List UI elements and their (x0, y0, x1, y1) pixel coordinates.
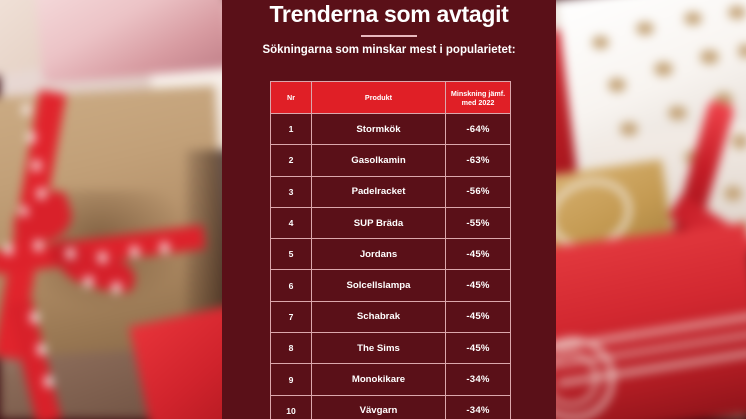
photo-gold-dot (724, 186, 742, 201)
photo-gold-dot (732, 134, 746, 149)
table-row: 4SUP Bräda-55% (271, 207, 511, 238)
table-row: 1Stormkök-64% (271, 114, 511, 145)
table-row: 7Schabrak-45% (271, 301, 511, 332)
cell-change: -63% (446, 145, 511, 176)
trends-table: Nr Produkt Minskning jämf. med 2022 1Sto… (270, 81, 511, 419)
cell-change: -34% (446, 364, 511, 395)
page-subtitle: Sökningarna som minskar mest i popularie… (242, 43, 536, 58)
cell-change: -45% (446, 301, 511, 332)
cell-change: -55% (446, 207, 511, 238)
cell-rank: 7 (271, 301, 312, 332)
cell-change: -34% (446, 395, 511, 419)
column-header-minskning-line2: med 2022 (462, 98, 495, 107)
cell-product: Schabrak (312, 301, 446, 332)
table-header: Nr Produkt Minskning jämf. med 2022 (271, 82, 511, 114)
table-row: 10Vävgarn-34% (271, 395, 511, 419)
photo-bow-knot (50, 240, 80, 268)
photo-gold-dot (668, 106, 687, 120)
cell-rank: 4 (271, 207, 312, 238)
photo-gold-dot (700, 50, 719, 64)
column-header-minskning-line1: Minskning jämf. (451, 89, 505, 98)
cell-change: -64% (446, 114, 511, 145)
cell-product: Monokikare (312, 364, 446, 395)
cell-product: Vävgarn (312, 395, 446, 419)
table-row: 5Jordans-45% (271, 239, 511, 270)
column-header-nr: Nr (271, 82, 312, 114)
cell-rank: 8 (271, 333, 312, 364)
cell-change: -56% (446, 176, 511, 207)
cell-product: SUP Bräda (312, 207, 446, 238)
photo-gold-dot (608, 78, 626, 92)
cell-product: Solcellslampa (312, 270, 446, 301)
photo-gold-dot (592, 36, 609, 49)
content-panel: Trenderna som avtagit Sökningarna som mi… (222, 0, 556, 419)
column-header-minskning: Minskning jämf. med 2022 (446, 82, 511, 114)
table-row: 3Padelracket-56% (271, 176, 511, 207)
cell-rank: 3 (271, 176, 312, 207)
cell-change: -45% (446, 270, 511, 301)
cell-rank: 10 (271, 395, 312, 419)
table-body: 1Stormkök-64%2Gasolkamin-63%3Padelracket… (271, 114, 511, 419)
title-divider (361, 35, 417, 37)
column-header-produkt: Produkt (312, 82, 446, 114)
slide-canvas: Trenderna som avtagit Sökningarna som mi… (0, 0, 746, 419)
cell-change: -45% (446, 239, 511, 270)
cell-rank: 6 (271, 270, 312, 301)
cell-rank: 9 (271, 364, 312, 395)
cell-change: -45% (446, 333, 511, 364)
photo-gold-dot (654, 62, 673, 76)
cell-product: Gasolkamin (312, 145, 446, 176)
cell-product: Padelracket (312, 176, 446, 207)
cell-product: Stormkök (312, 114, 446, 145)
cell-product: Jordans (312, 239, 446, 270)
table-row: 9Monokikare-34% (271, 364, 511, 395)
table-row: 6Solcellslampa-45% (271, 270, 511, 301)
cell-rank: 1 (271, 114, 312, 145)
table-header-row: Nr Produkt Minskning jämf. med 2022 (271, 82, 511, 114)
cell-rank: 5 (271, 239, 312, 270)
table-row: 2Gasolkamin-63% (271, 145, 511, 176)
photo-gold-dot (620, 122, 638, 136)
cell-rank: 2 (271, 145, 312, 176)
page-title: Trenderna som avtagit (222, 1, 556, 28)
photo-gold-dot (684, 12, 702, 25)
photo-gold-dot (636, 22, 654, 35)
photo-gold-dot (728, 6, 746, 19)
table-row: 8The Sims-45% (271, 333, 511, 364)
cell-product: The Sims (312, 333, 446, 364)
